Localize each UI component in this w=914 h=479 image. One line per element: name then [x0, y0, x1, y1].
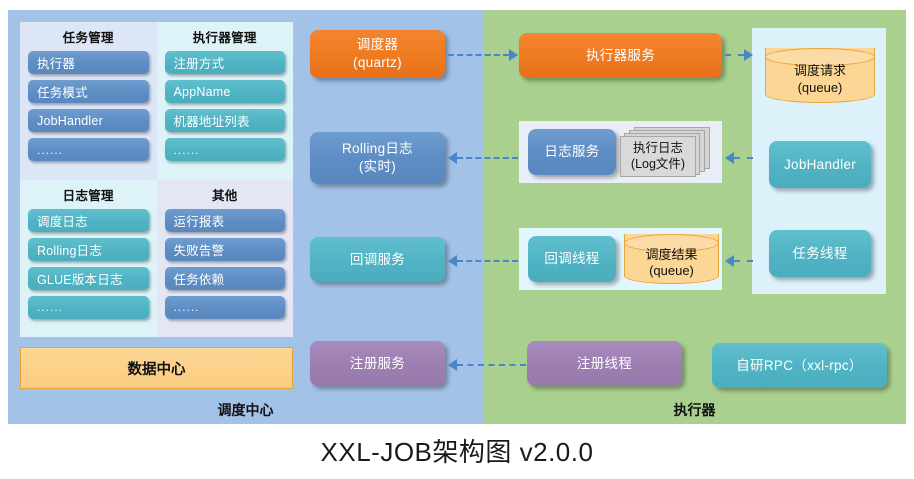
node-xxl-rpc-label: 自研RPC（xxl-rpc） — [736, 357, 862, 375]
list-item[interactable]: 任务模式 — [28, 80, 149, 103]
management-panel: 任务管理 执行器 任务模式 JobHandler ...... 执行器管理 注册… — [20, 22, 293, 337]
node-register-thread[interactable]: 注册线程 — [527, 341, 682, 386]
list-item[interactable]: JobHandler — [28, 109, 149, 132]
list-item[interactable]: 注册方式 — [165, 51, 286, 74]
data-center-box: 数据中心 — [20, 347, 293, 389]
queue-schedule-result-line1: 调度结果 — [645, 247, 697, 262]
node-scheduler-line2: (quartz) — [353, 55, 402, 70]
arrow-scheduler-to-executor-service — [448, 49, 518, 61]
list-item[interactable]: 机器地址列表 — [165, 109, 286, 132]
scheduling-center-label: 调度中心 — [8, 400, 483, 420]
node-callback-service-label: 回调服务 — [350, 251, 405, 269]
arrow-task-thread-to-callback-thread — [725, 255, 753, 267]
node-callback-thread[interactable]: 回调线程 — [528, 236, 616, 282]
arrow-jobhandler-to-log-service — [725, 152, 753, 164]
log-group-container: 日志服务 执行日志 (Log文件) — [519, 121, 722, 183]
queue-schedule-result[interactable]: 调度结果 (queue) — [624, 234, 719, 284]
node-rolling-log-line1: Rolling日志 — [342, 141, 413, 156]
queue-schedule-request-line2: (queue) — [798, 80, 843, 95]
group-title: 日志管理 — [26, 185, 151, 204]
queue-schedule-request-line1: 调度请求 — [794, 63, 846, 78]
list-item[interactable]: ...... — [165, 296, 286, 319]
architecture-diagram: 调度中心 执行器 任务管理 执行器 任务模式 JobHandler ......… — [0, 0, 914, 479]
node-callback-service[interactable]: 回调服务 — [310, 237, 445, 282]
list-item[interactable]: 运行报表 — [165, 209, 286, 232]
management-group-task: 任务管理 执行器 任务模式 JobHandler ...... — [20, 22, 157, 180]
arrow-executor-service-to-request-queue — [725, 49, 753, 61]
management-group-other: 其他 运行报表 失败告警 任务依赖 ...... — [157, 180, 294, 338]
executor-label: 执行器 — [483, 400, 906, 420]
group-title: 其他 — [163, 185, 288, 204]
data-center-label: 数据中心 — [128, 358, 186, 379]
list-item[interactable]: ...... — [28, 138, 149, 161]
page-title: XXL-JOB架构图 v2.0.0 — [0, 432, 914, 469]
node-rolling-log-line2: (实时) — [359, 159, 396, 174]
list-item[interactable]: ...... — [165, 138, 286, 161]
list-item[interactable]: Rolling日志 — [28, 238, 149, 261]
exec-log-file-stack[interactable]: 执行日志 (Log文件) — [620, 127, 712, 177]
node-scheduler-line1: 调度器 — [357, 37, 398, 52]
node-register-thread-label: 注册线程 — [577, 355, 632, 373]
management-group-log: 日志管理 调度日志 Rolling日志 GLUE版本日志 ...... — [20, 180, 157, 338]
exec-log-line2: (Log文件) — [631, 157, 685, 171]
list-item[interactable]: AppName — [165, 80, 286, 103]
callback-group-container: 回调线程 调度结果 (queue) — [519, 228, 722, 290]
log-sheet-front: 执行日志 (Log文件) — [620, 136, 696, 177]
executor-internals-container: 调度请求 (queue) JobHandler 任务线程 — [752, 28, 886, 294]
group-title: 任务管理 — [26, 27, 151, 46]
group-title: 执行器管理 — [163, 27, 288, 46]
exec-log-line1: 执行日志 — [633, 141, 683, 155]
queue-schedule-request-text: 调度请求 (queue) — [765, 48, 875, 103]
queue-schedule-result-text: 调度结果 (queue) — [624, 234, 719, 284]
node-log-service-label: 日志服务 — [544, 143, 599, 161]
node-xxl-rpc[interactable]: 自研RPC（xxl-rpc） — [712, 343, 887, 388]
list-item[interactable]: 失败告警 — [165, 238, 286, 261]
node-job-handler-label: JobHandler — [784, 156, 856, 174]
management-group-executor: 执行器管理 注册方式 AppName 机器地址列表 ...... — [157, 22, 294, 180]
list-item[interactable]: 调度日志 — [28, 209, 149, 232]
node-executor-service-label: 执行器服务 — [586, 47, 655, 65]
list-item[interactable]: ...... — [28, 296, 149, 319]
node-task-thread-label: 任务线程 — [792, 245, 847, 263]
list-item[interactable]: 任务依赖 — [165, 267, 286, 290]
queue-schedule-request[interactable]: 调度请求 (queue) — [765, 48, 875, 103]
node-log-service[interactable]: 日志服务 — [528, 129, 616, 175]
node-register-service-label: 注册服务 — [350, 355, 405, 373]
node-scheduler[interactable]: 调度器 (quartz) — [310, 30, 445, 78]
arrow-register-thread-to-register-service — [448, 359, 526, 371]
node-rolling-log[interactable]: Rolling日志 (实时) — [310, 132, 445, 184]
node-executor-service[interactable]: 执行器服务 — [519, 33, 722, 78]
node-task-thread[interactable]: 任务线程 — [769, 230, 871, 277]
node-register-service[interactable]: 注册服务 — [310, 341, 445, 386]
node-job-handler[interactable]: JobHandler — [769, 141, 871, 188]
queue-schedule-result-line2: (queue) — [649, 263, 694, 278]
arrow-log-service-to-rolling-log — [448, 152, 518, 164]
list-item[interactable]: 执行器 — [28, 51, 149, 74]
node-callback-thread-label: 回调线程 — [544, 250, 599, 268]
list-item[interactable]: GLUE版本日志 — [28, 267, 149, 290]
arrow-callback-thread-to-callback-service — [448, 255, 518, 267]
